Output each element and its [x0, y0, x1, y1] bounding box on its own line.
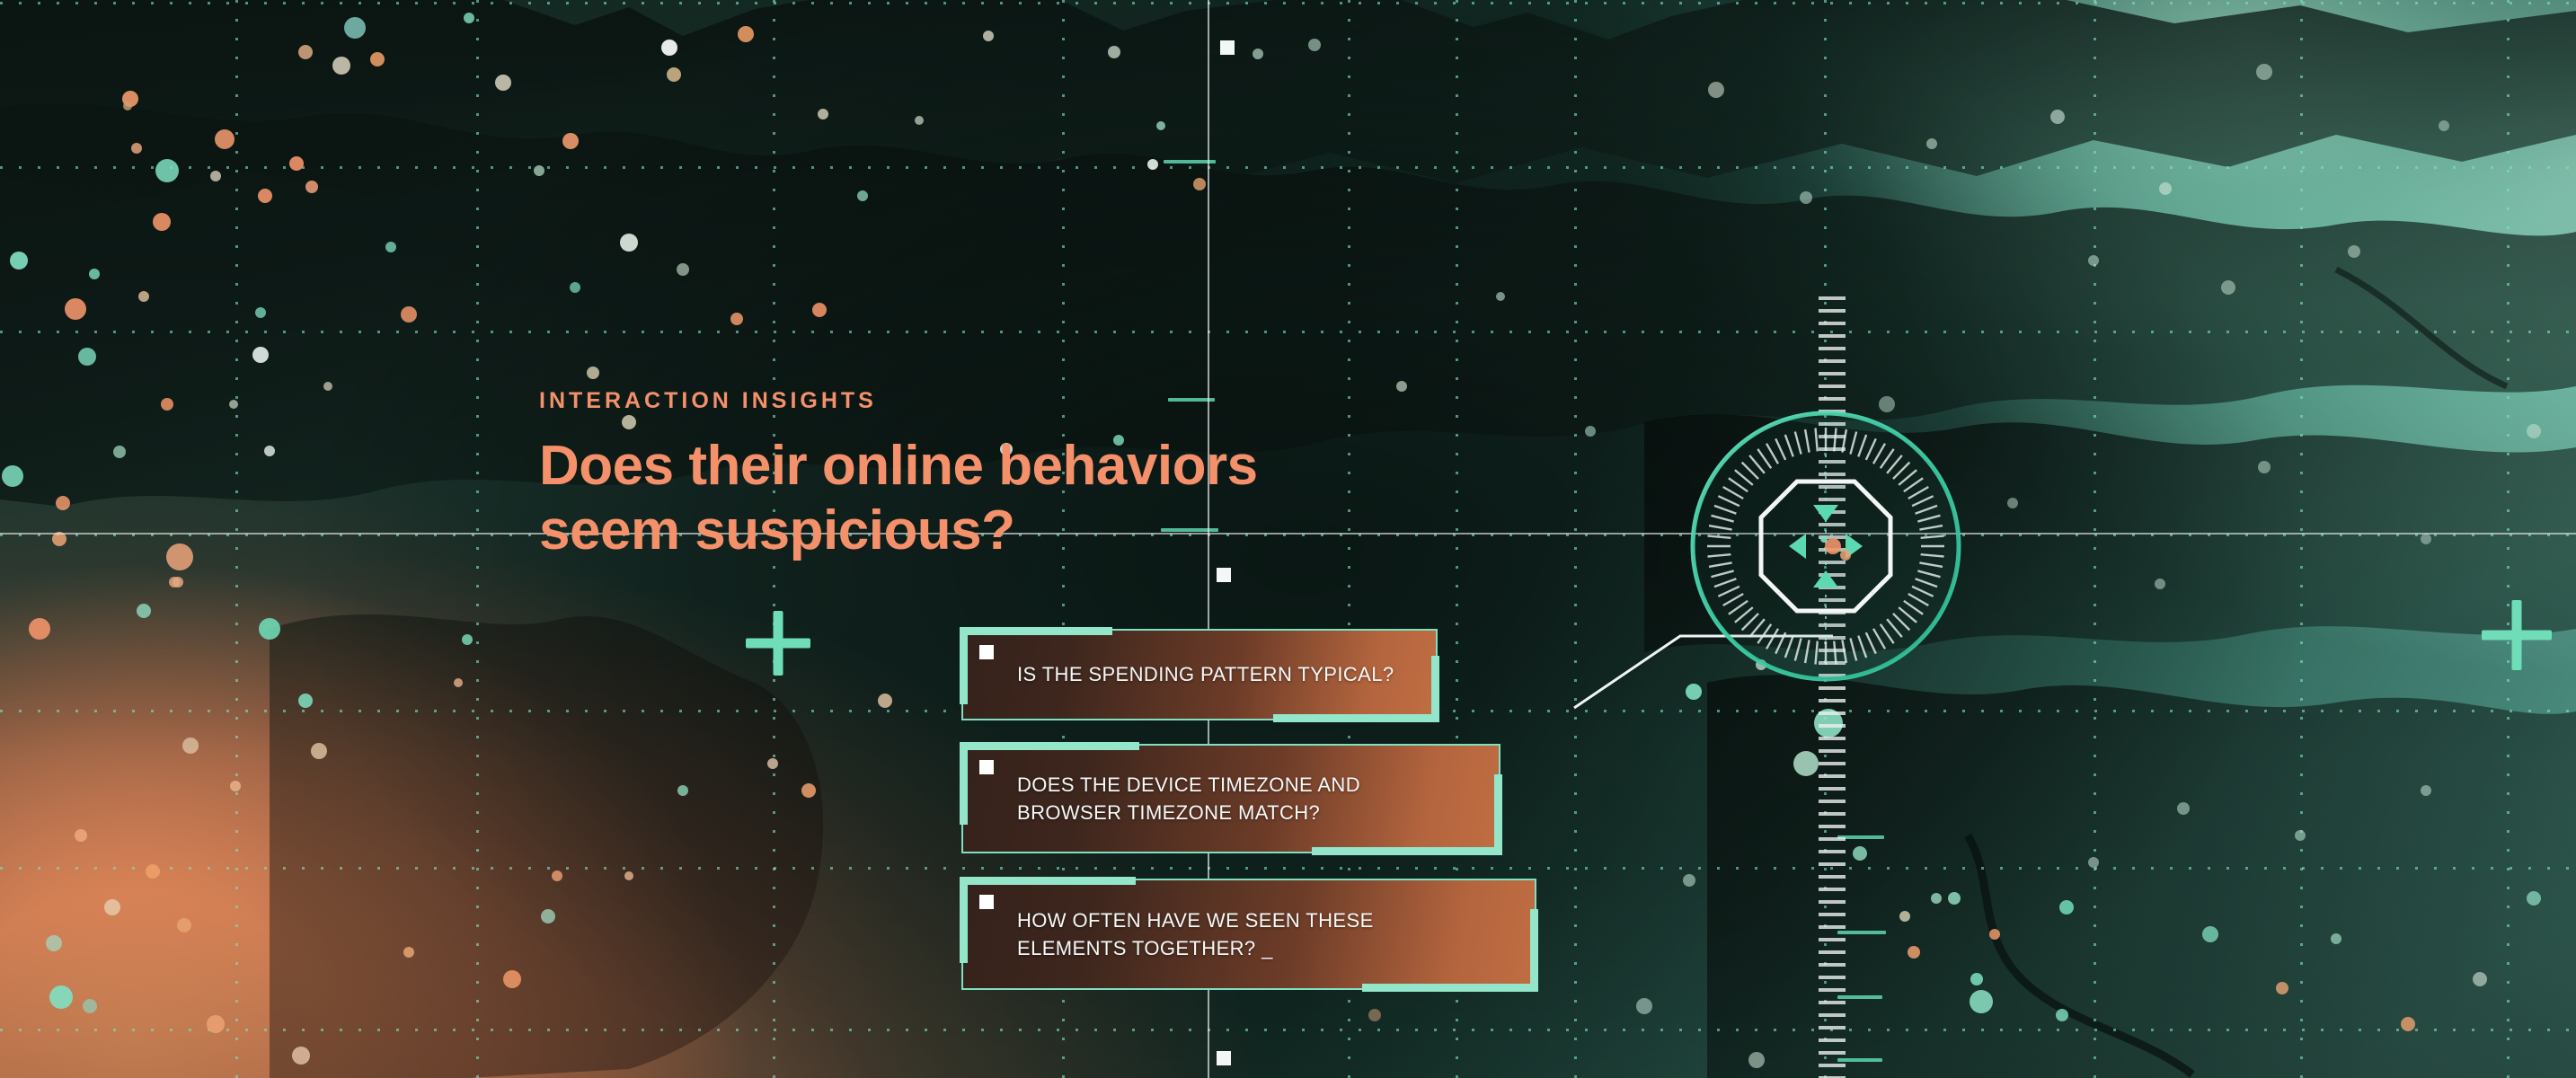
- card-text: IS THE SPENDING PATTERN TYPICAL?: [963, 660, 1420, 688]
- eyebrow-label: INTERACTION INSIGHTS: [539, 388, 1258, 414]
- targeting-reticle[interactable]: [1682, 402, 1970, 690]
- card-accent-top: [960, 742, 1139, 750]
- square-marker: [1217, 1051, 1231, 1065]
- card-accent-right: [1530, 909, 1538, 992]
- card-bullet-icon: [979, 760, 994, 774]
- slide-canvas: INTERACTION INSIGHTS Does their online b…: [0, 0, 2576, 1078]
- question-card-1[interactable]: IS THE SPENDING PATTERN TYPICAL?: [961, 629, 1438, 720]
- card-accent-right: [1431, 656, 1439, 722]
- card-accent-top: [960, 877, 1136, 885]
- plus-crosshair-left: [746, 611, 810, 676]
- card-text: DOES THE DEVICE TIMEZONE AND BROWSER TIM…: [963, 771, 1385, 826]
- square-marker: [1217, 568, 1231, 582]
- card-text: HOW OFTEN HAVE WE SEEN THESE ELEMENTS TO…: [963, 906, 1399, 962]
- card-accent-right: [1494, 774, 1502, 855]
- page-title: Does their online behaviors seem suspici…: [539, 434, 1258, 563]
- card-accent-top: [960, 627, 1112, 635]
- card-bullet-icon: [979, 895, 994, 909]
- card-accent-bottom: [1312, 847, 1502, 855]
- card-accent-bottom: [1273, 714, 1439, 722]
- horizontal-crosshair-line: [0, 533, 2576, 535]
- question-card-3[interactable]: HOW OFTEN HAVE WE SEEN THESE ELEMENTS TO…: [961, 879, 1536, 990]
- headline-block: INTERACTION INSIGHTS Does their online b…: [539, 388, 1258, 563]
- card-bullet-icon: [979, 645, 994, 659]
- card-accent-bottom: [1362, 984, 1538, 992]
- question-card-2[interactable]: DOES THE DEVICE TIMEZONE AND BROWSER TIM…: [961, 744, 1500, 853]
- card-accent-left: [960, 742, 968, 825]
- plus-crosshair-right: [2482, 600, 2552, 670]
- card-accent-left: [960, 627, 968, 704]
- card-accent-left: [960, 877, 968, 963]
- square-marker: [1220, 40, 1235, 55]
